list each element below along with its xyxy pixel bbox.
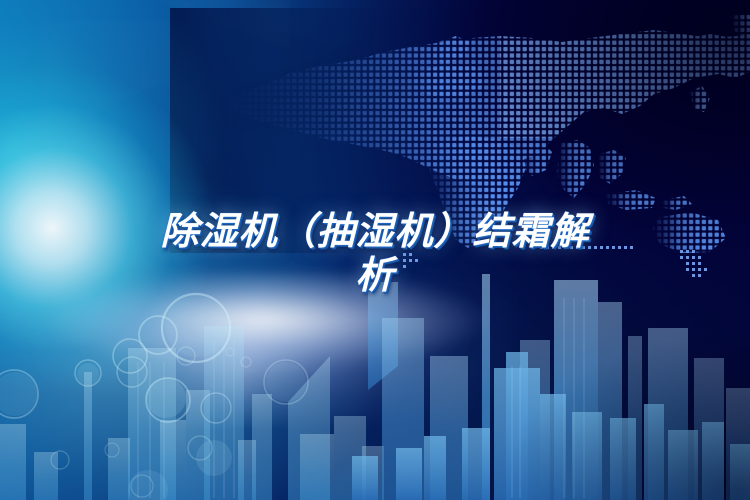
title-line-2: 析	[0, 254, 750, 298]
banner-image: 除湿机（抽湿机）结霜解 析	[0, 0, 750, 500]
title-line-1: 除湿机（抽湿机）结霜解	[0, 210, 750, 254]
bokeh-circles	[0, 290, 470, 500]
banner-title: 除湿机（抽湿机）结霜解 析	[0, 210, 750, 298]
